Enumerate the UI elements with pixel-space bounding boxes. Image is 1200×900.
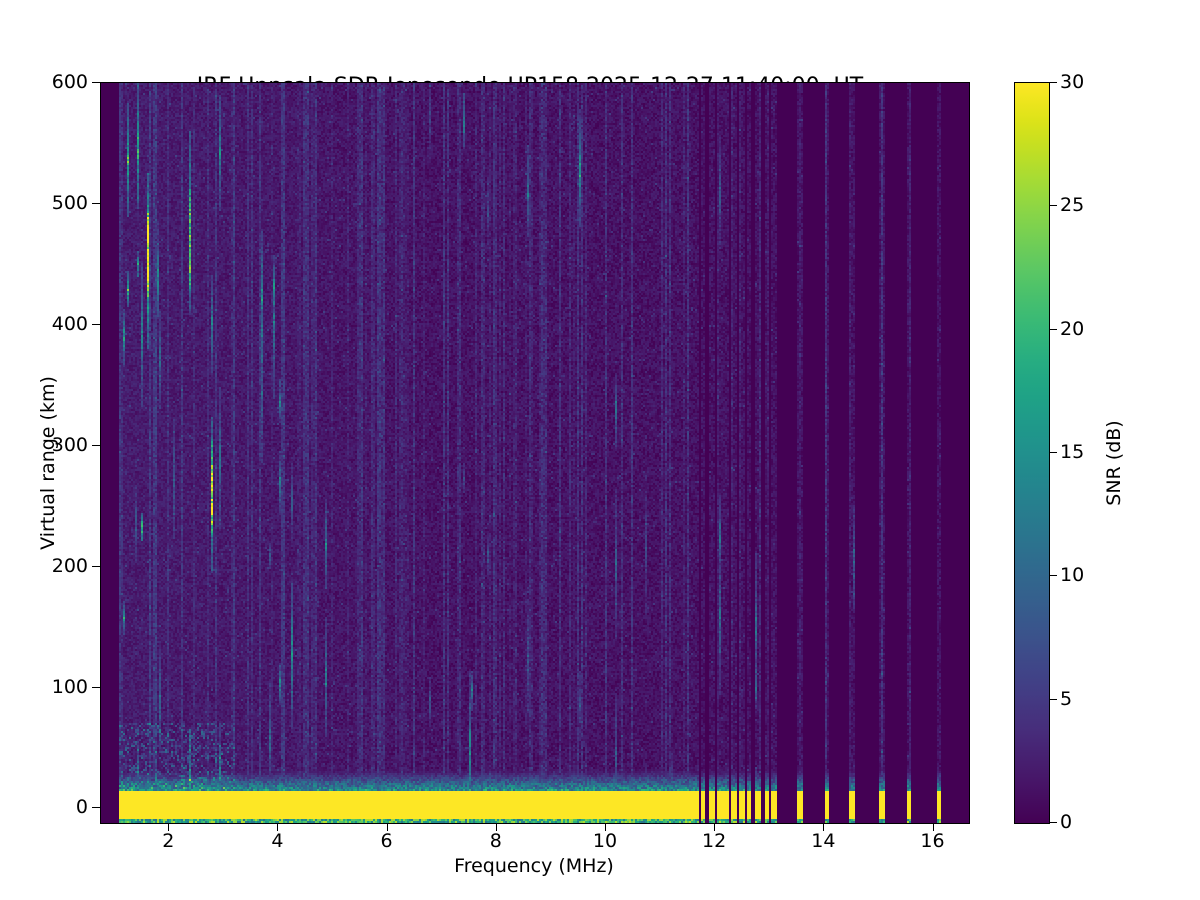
colorbar-tick-label: 0: [1060, 811, 1072, 833]
x-tick-label: 8: [490, 830, 502, 852]
x-tick-mark: [714, 823, 715, 831]
y-tick-label: 0: [76, 796, 88, 818]
y-tick-mark: [92, 324, 100, 325]
y-tick-mark: [92, 807, 100, 808]
colorbar-tick-label: 20: [1060, 318, 1084, 340]
x-tick-mark: [387, 823, 388, 831]
colorbar-tick-label: 10: [1060, 564, 1084, 586]
colorbar-tick-label: 25: [1060, 194, 1084, 216]
colorbar-tick-label: 15: [1060, 441, 1084, 463]
ionogram-figure: IRF Uppsala SDR Ionosonde UP158 2025-12-…: [0, 0, 1200, 900]
x-tick-label: 16: [920, 830, 944, 852]
x-tick-label: 12: [702, 830, 726, 852]
y-tick-mark: [92, 687, 100, 688]
y-tick-label: 100: [52, 676, 88, 698]
colorbar-tick-label: 5: [1060, 688, 1072, 710]
colorbar: [1014, 82, 1050, 824]
x-tick-mark: [168, 823, 169, 831]
colorbar-tick-label: 30: [1060, 71, 1084, 93]
colorbar-tick-mark: [1050, 329, 1057, 330]
colorbar-tick-mark: [1050, 699, 1057, 700]
x-tick-label: 6: [381, 830, 393, 852]
colorbar-label: SNR (dB): [1103, 313, 1125, 613]
x-tick-label: 10: [593, 830, 617, 852]
y-tick-label: 600: [52, 71, 88, 93]
colorbar-tick-mark: [1050, 452, 1057, 453]
x-tick-mark: [496, 823, 497, 831]
colorbar-tick-mark: [1050, 205, 1057, 206]
x-tick-mark: [933, 823, 934, 831]
colorbar-tick-mark: [1050, 822, 1057, 823]
x-tick-mark: [823, 823, 824, 831]
colorbar-tick-mark: [1050, 575, 1057, 576]
x-tick-label: 14: [811, 830, 835, 852]
x-tick-mark: [605, 823, 606, 831]
colorbar-tick-mark: [1050, 82, 1057, 83]
x-tick-label: 2: [162, 830, 174, 852]
x-tick-mark: [277, 823, 278, 831]
colorbar-gradient: [1015, 83, 1049, 823]
y-tick-mark: [92, 82, 100, 83]
x-tick-label: 4: [271, 830, 283, 852]
y-tick-mark: [92, 203, 100, 204]
y-tick-mark: [92, 445, 100, 446]
ionogram-axes: [100, 82, 970, 824]
y-tick-label: 500: [52, 192, 88, 214]
ionogram-heatmap: [101, 83, 969, 823]
y-axis-label: Virtual range (km): [37, 313, 59, 613]
x-axis-label: Frequency (MHz): [100, 855, 968, 877]
y-tick-mark: [92, 566, 100, 567]
